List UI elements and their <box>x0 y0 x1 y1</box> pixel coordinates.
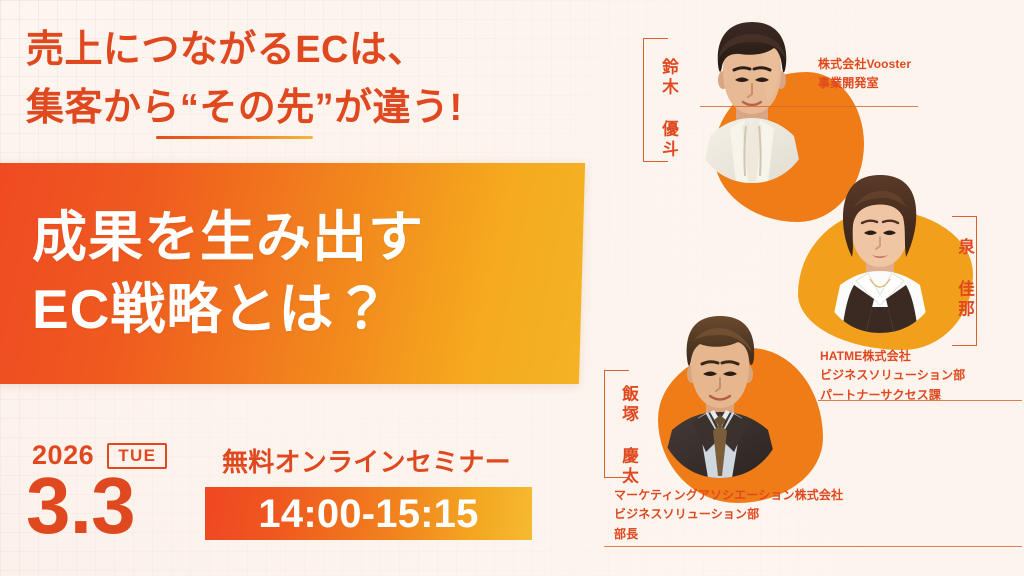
speaker-card-3: 飯塚 慶太 <box>0 0 1024 576</box>
speaker-3-name: 飯塚 慶太 <box>620 385 637 487</box>
speaker-3-company: マーケティングアソシエーション株式会社 <box>614 486 843 505</box>
speaker-3-department: ビジネスソリューション部 <box>614 505 843 524</box>
speaker-3-division: 部長 <box>614 525 843 544</box>
speaker-3-affiliation: マーケティングアソシエーション株式会社 ビジネスソリューション部 部長 <box>614 486 843 544</box>
speaker-3-photo <box>648 312 793 478</box>
seminar-poster: 売上につながるECは、 集客から“その先”が違う! 成果を生み出す EC戦略とは… <box>0 0 1024 576</box>
speaker-3-rule <box>604 546 1022 547</box>
